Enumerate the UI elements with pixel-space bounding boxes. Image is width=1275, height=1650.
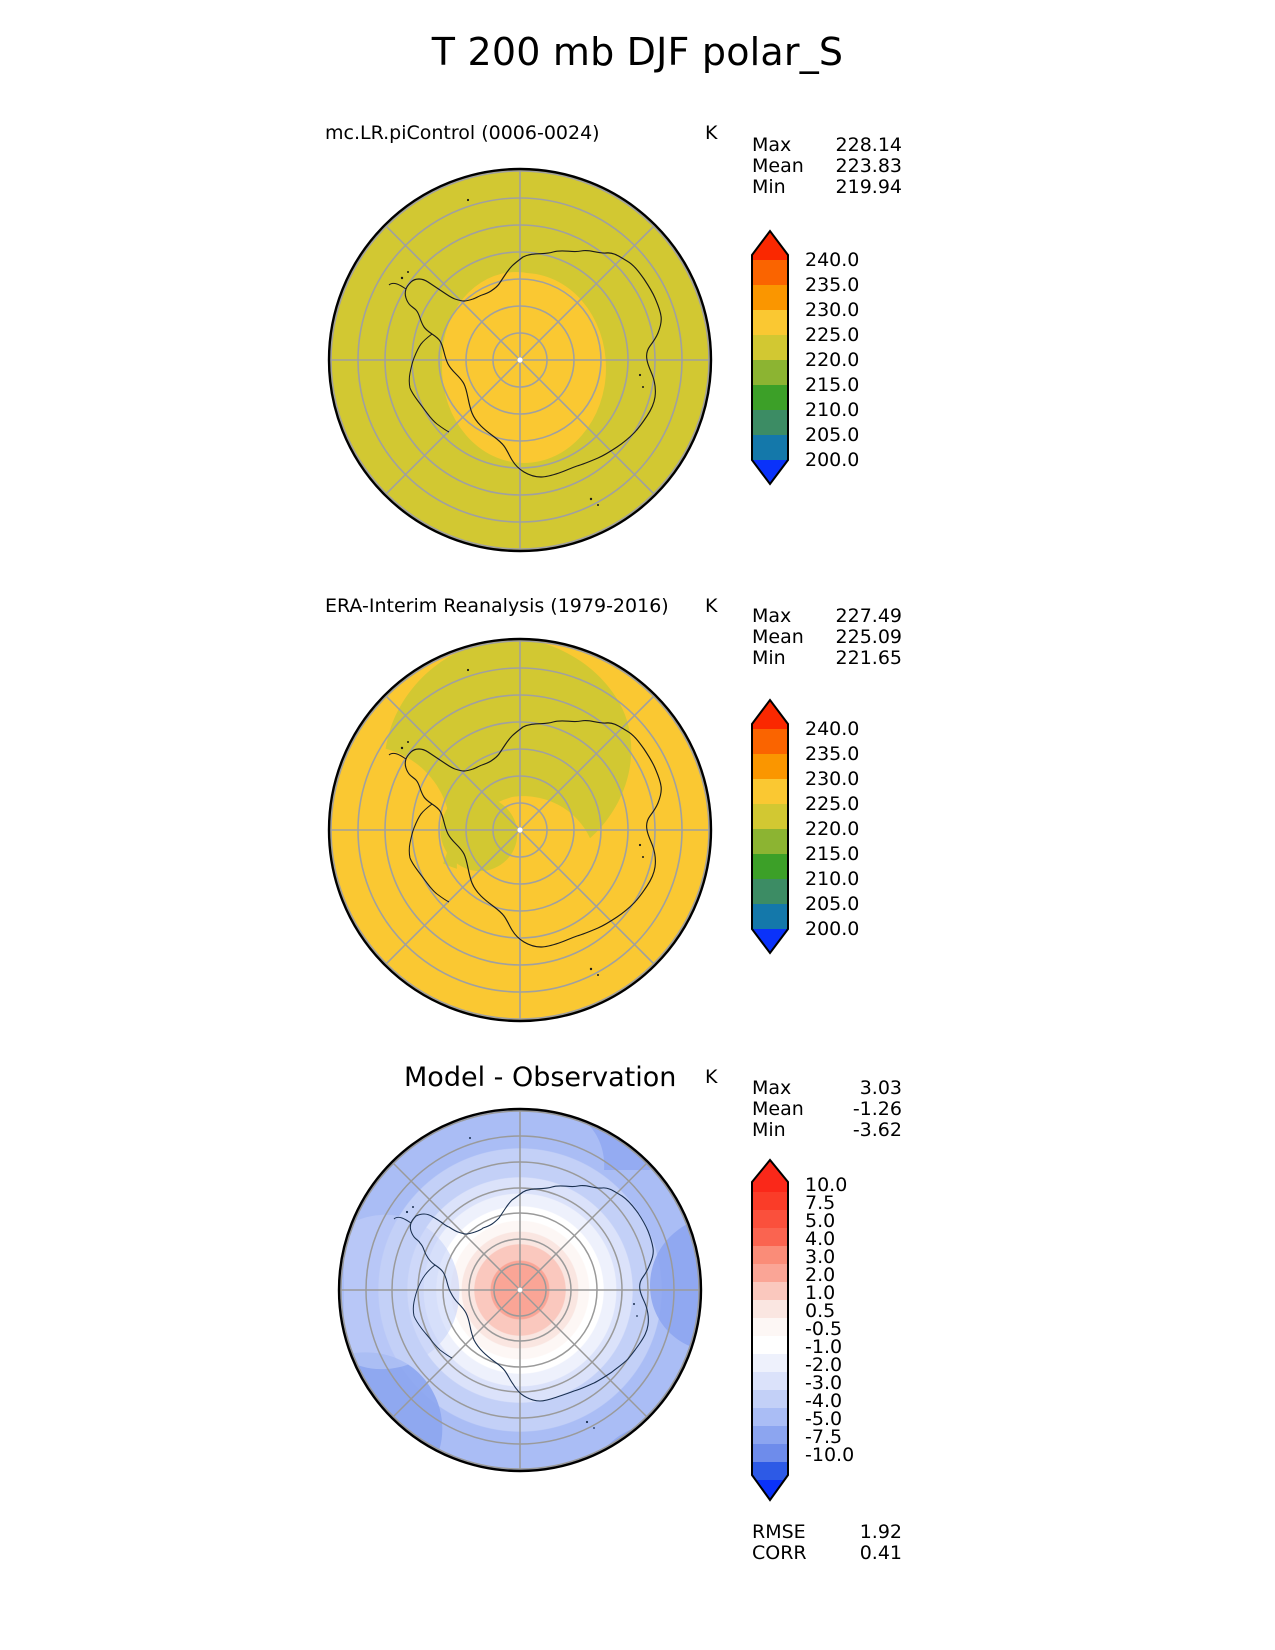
stat-label: Min [752, 648, 786, 669]
cbar-tick: 230.0 [805, 299, 859, 321]
panel-model-unit-label: K [705, 122, 717, 144]
pole-marker [518, 1288, 523, 1293]
stat-value: 227.49 [836, 606, 902, 627]
stat-label: Min [752, 177, 786, 198]
panel-model-title: mc.LR.piControl (0006-0024) [325, 122, 600, 144]
colorbar-absolute-model [748, 215, 792, 500]
cbar-tick: 215.0 [805, 374, 859, 396]
cbar-tick: 205.0 [805, 893, 859, 915]
colorbar-difference [748, 1150, 792, 1510]
stat-value: 3.03 [860, 1078, 902, 1099]
figure-canvas: T 200 mb DJF polar_S mc.LR.piControl (00… [0, 0, 1275, 1650]
cbar-tick: 220.0 [805, 349, 859, 371]
cbar-tick: 210.0 [805, 399, 859, 421]
stat-label: Min [752, 1120, 786, 1141]
stat-value: 219.94 [836, 177, 902, 198]
stat-value: 225.09 [836, 627, 902, 648]
stat-value: -3.62 [853, 1120, 902, 1141]
cbar-tick: 200.0 [805, 449, 859, 471]
cbar-tick: 240.0 [805, 249, 859, 271]
pole-marker [517, 827, 522, 832]
cbar-tick: 240.0 [805, 718, 859, 740]
cbar-tick: 200.0 [805, 918, 859, 940]
footer-stat-value: 1.92 [860, 1522, 902, 1543]
cbar-tick: 235.0 [805, 274, 859, 296]
cbar-tick: 225.0 [805, 793, 859, 815]
polar-map-model [320, 160, 720, 560]
polar-map-observation [320, 630, 720, 1030]
cbar-tick: 215.0 [805, 843, 859, 865]
cbar-tick: 225.0 [805, 324, 859, 346]
stat-label: Mean [752, 156, 804, 177]
page-title: T 200 mb DJF polar_S [0, 30, 1275, 74]
panel-observation-unit-label: K [705, 595, 717, 617]
stat-label: Mean [752, 1099, 804, 1120]
panel-observation-title: ERA-Interim Reanalysis (1979-2016) [325, 595, 669, 617]
stat-label: Mean [752, 627, 804, 648]
colorbar-absolute-observation [748, 684, 792, 969]
footer-stat-value: 0.41 [860, 1543, 902, 1564]
cbar-tick: -10.0 [805, 1444, 854, 1466]
polar-map-difference [330, 1100, 710, 1480]
footer-stat-label: RMSE [752, 1522, 806, 1543]
stat-label: Max [752, 606, 791, 627]
cbar-tick: 210.0 [805, 868, 859, 890]
stat-value: 221.65 [836, 648, 902, 669]
stat-value: -1.26 [853, 1099, 902, 1120]
stat-label: Max [752, 1078, 791, 1099]
stat-label: Max [752, 135, 791, 156]
stat-value: 228.14 [836, 135, 902, 156]
panel-difference-unit-label: K [705, 1066, 717, 1088]
cbar-tick: 235.0 [805, 743, 859, 765]
panel-difference-title: Model - Observation [404, 1062, 676, 1093]
cbar-tick: 230.0 [805, 768, 859, 790]
cbar-tick: 220.0 [805, 818, 859, 840]
footer-stat-label: CORR [752, 1543, 807, 1564]
stat-value: 223.83 [836, 156, 902, 177]
pole-marker [517, 357, 522, 362]
cbar-tick: 205.0 [805, 424, 859, 446]
